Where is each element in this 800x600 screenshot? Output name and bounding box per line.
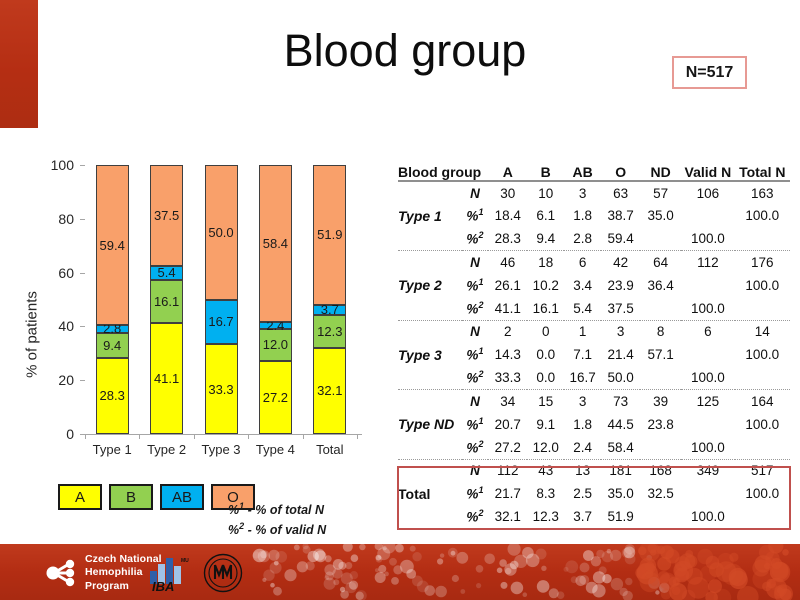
table-cell: 168 [640, 459, 681, 482]
chart-plot-area: 28.39.42.859.441.116.15.437.533.30.016.7… [85, 165, 357, 434]
table-cell: 41.1 [488, 297, 527, 320]
table-cell: 46 [488, 251, 527, 274]
table-cell: 58.4 [601, 436, 640, 459]
bar-segment-o: 59.4 [96, 165, 129, 325]
bar-segment-ab: 5.4 [150, 266, 183, 281]
bar-segment-o: 58.4 [259, 165, 292, 322]
table-header-ab: AB [564, 164, 601, 180]
y-tick-label: 60 [38, 266, 74, 280]
table-cell: 21.4 [601, 343, 640, 366]
slide-accent-block [0, 0, 38, 128]
table-cell: 5.4 [564, 297, 601, 320]
table-header-row: Blood groupABABONDValid NTotal N [398, 164, 790, 180]
table-cell: 2.8 [564, 227, 601, 250]
table-cell: 1.8 [564, 413, 601, 436]
table-cell: 176 [735, 251, 790, 274]
bar-value-label: 12.0 [263, 337, 288, 352]
table-cell: 163 [735, 181, 790, 204]
table-cell: 35.0 [601, 482, 640, 505]
table-cell: 64 [640, 251, 681, 274]
table-cell [640, 505, 681, 528]
table-header-total-n: Total N [735, 164, 790, 180]
bar-segment-a: 32.1 [313, 348, 346, 434]
x-axis-line [80, 434, 362, 435]
bar-column: 28.39.42.859.4 [96, 165, 129, 434]
table-cell: 28.3 [488, 227, 527, 250]
stat-label: %2 [462, 366, 489, 389]
table-cell: 34 [488, 390, 527, 413]
footnotes: %1 - % of total N %2 - % of valid N [228, 500, 326, 540]
table-cell: 100.0 [681, 505, 734, 528]
bar-value-label: 37.5 [154, 208, 179, 223]
table-cell [681, 274, 734, 297]
table-cell: 26.1 [488, 274, 527, 297]
table-cell: 2.4 [564, 436, 601, 459]
bar-value-label: 16.7 [208, 314, 233, 329]
iba-logo: IBA MU [148, 554, 194, 592]
x-tick-mark [303, 434, 304, 439]
table-cell: 2 [488, 320, 527, 343]
legend-label: AB [172, 489, 192, 506]
stat-label: %2 [462, 297, 489, 320]
table-cell: 14.3 [488, 343, 527, 366]
x-tick-mark [357, 434, 358, 439]
bar-segment-ab: 3.7 [313, 305, 346, 315]
table-cell: 6.1 [527, 204, 564, 227]
table-row: Type 3N20138614 [398, 320, 790, 343]
table-cell: 23.8 [640, 413, 681, 436]
bar-segment-a: 27.2 [259, 361, 292, 434]
table-cell: 33.3 [488, 366, 527, 389]
table-cell [735, 436, 790, 459]
table-cell [681, 482, 734, 505]
table-cell: 14 [735, 320, 790, 343]
table-cell: 100.0 [735, 204, 790, 227]
sample-size-badge: N=517 [672, 56, 747, 89]
table-cell: 44.5 [601, 413, 640, 436]
table-header-valid-n: Valid N [681, 164, 734, 180]
row-group-label: Type 3 [398, 320, 462, 389]
table-cell: 37.5 [601, 297, 640, 320]
footnote-2: %2 - % of valid N [228, 520, 326, 540]
table-cell: 0.0 [527, 343, 564, 366]
table-rule [398, 528, 790, 529]
svg-text:MU: MU [181, 558, 189, 564]
table-cell: 100.0 [735, 413, 790, 436]
table-cell: 32.5 [640, 482, 681, 505]
bar-value-label: 27.2 [263, 390, 288, 405]
table-cell: 10.2 [527, 274, 564, 297]
table-cell: 0 [527, 320, 564, 343]
bar-value-label: 58.4 [263, 236, 288, 251]
bar-value-label: 12.3 [317, 324, 342, 339]
x-tick-mark [248, 434, 249, 439]
table-cell: 39 [640, 390, 681, 413]
table-cell [681, 204, 734, 227]
bar-column: 32.112.33.751.9 [313, 165, 346, 434]
table-cell: 57.1 [640, 343, 681, 366]
bar-column: 27.212.02.458.4 [259, 165, 292, 434]
bar-segment-ab: 2.8 [96, 325, 129, 333]
row-group-label: Type ND [398, 390, 462, 459]
table-row: Type 2N461864264112176 [398, 251, 790, 274]
table-cell [735, 505, 790, 528]
table-cell [681, 343, 734, 366]
bar-segment-b: 9.4 [96, 333, 129, 358]
bar-column: 33.30.016.750.0 [205, 165, 238, 434]
table-cell: 73 [601, 390, 640, 413]
table-cell: 30 [488, 181, 527, 204]
table-cell: 20.7 [488, 413, 527, 436]
table-header-blood-group: Blood group [398, 164, 488, 180]
stat-label: %1 [462, 274, 489, 297]
table-cell: 2.5 [564, 482, 601, 505]
stat-label: %1 [462, 482, 489, 505]
y-tick-label: 40 [38, 319, 74, 333]
table-cell: 1 [564, 320, 601, 343]
blood-group-table: Blood groupABABONDValid NTotal NType 1N3… [398, 164, 790, 530]
row-group-label: Type 2 [398, 251, 462, 320]
table-row: Type NDN341537339125164 [398, 390, 790, 413]
stat-label: N [462, 390, 489, 413]
page-title: Blood group [190, 27, 620, 74]
stat-label: N [462, 251, 489, 274]
table-cell [735, 227, 790, 250]
x-category-label: Total [295, 442, 365, 457]
legend-label: B [126, 489, 136, 506]
cnhp-molecule-icon [44, 556, 78, 590]
table-header-o: O [601, 164, 640, 180]
bar-segment-ab: 2.4 [259, 322, 292, 328]
table-cell: 125 [681, 390, 734, 413]
table-cell: 7.1 [564, 343, 601, 366]
table-cell: 100.0 [681, 436, 734, 459]
table-cell: 100.0 [735, 343, 790, 366]
bar-value-label: 5.4 [158, 265, 176, 280]
table-cell: 16.7 [564, 366, 601, 389]
table-cell: 100.0 [735, 482, 790, 505]
table-cell: 8.3 [527, 482, 564, 505]
table-cell: 181 [601, 459, 640, 482]
y-tick-label: 0 [38, 427, 74, 441]
table-cell: 16.1 [527, 297, 564, 320]
table-cell: 12.3 [527, 505, 564, 528]
stat-label: %2 [462, 505, 489, 528]
stat-label: %1 [462, 413, 489, 436]
table-cell: 3 [601, 320, 640, 343]
bar-value-label: 51.9 [317, 227, 342, 242]
table-cell: 112 [488, 459, 527, 482]
table-cell: 8 [640, 320, 681, 343]
bar-value-label: 16.1 [154, 294, 179, 309]
table-row: Type 1N301036357106163 [398, 181, 790, 204]
bar-segment-a: 33.3 [205, 344, 238, 434]
legend-item-a: A [58, 484, 102, 510]
table-cell [640, 227, 681, 250]
legend-item-ab: AB [160, 484, 204, 510]
legend-label: A [75, 489, 85, 506]
table-cell: 112 [681, 251, 734, 274]
table-cell: 6 [681, 320, 734, 343]
table-cell: 13 [564, 459, 601, 482]
stat-label: N [462, 459, 489, 482]
table-cell: 6 [564, 251, 601, 274]
cnhp-logo: Czech National Hemophilia Program [44, 553, 162, 593]
bar-value-label: 41.1 [154, 371, 179, 386]
stat-label: %1 [462, 204, 489, 227]
y-tick-label: 100 [38, 158, 74, 172]
y-tick-label: 80 [38, 212, 74, 226]
table-cell: 23.9 [601, 274, 640, 297]
bar-segment-b: 12.0 [259, 329, 292, 361]
bar-column: 41.116.15.437.5 [150, 165, 183, 434]
table-cell [735, 297, 790, 320]
row-group-label: Total [398, 459, 462, 528]
table-cell: 38.7 [601, 204, 640, 227]
bar-segment-o: 50.0 [205, 165, 238, 300]
bar-value-label: 9.4 [103, 338, 121, 353]
table-cell: 50.0 [601, 366, 640, 389]
table-cell: 18 [527, 251, 564, 274]
table-cell: 106 [681, 181, 734, 204]
sample-size-text: N=517 [686, 64, 734, 82]
stat-label: %2 [462, 227, 489, 250]
table-cell: 10 [527, 181, 564, 204]
bar-value-label: 33.3 [208, 382, 233, 397]
table-cell: 164 [735, 390, 790, 413]
table-cell: 349 [681, 459, 734, 482]
table-cell: 3.7 [564, 505, 601, 528]
table-cell: 100.0 [735, 274, 790, 297]
table-cell: 100.0 [681, 366, 734, 389]
bar-segment-b: 12.3 [313, 315, 346, 348]
table-cell: 100.0 [681, 297, 734, 320]
stat-label: %2 [462, 436, 489, 459]
table-row: TotalN1124313181168349517 [398, 459, 790, 482]
table-cell [735, 366, 790, 389]
table-cell [681, 413, 734, 436]
table-cell: 3 [564, 181, 601, 204]
footnote-1: %1 - % of total N [228, 500, 326, 520]
row-group-label: Type 1 [398, 181, 462, 250]
table-cell: 9.4 [527, 227, 564, 250]
x-tick-mark [139, 434, 140, 439]
bar-value-label: 50.0 [208, 225, 233, 240]
table-cell: 57 [640, 181, 681, 204]
bar-value-label: 28.3 [100, 388, 125, 403]
stacked-bar-chart: % of patients 020406080100 28.39.42.859.… [0, 150, 390, 450]
table-cell: 100.0 [681, 227, 734, 250]
table-cell: 18.4 [488, 204, 527, 227]
table-cell: 517 [735, 459, 790, 482]
table-cell: 12.0 [527, 436, 564, 459]
table-cell: 0.0 [527, 366, 564, 389]
table-header-a: A [488, 164, 527, 180]
table-cell: 43 [527, 459, 564, 482]
x-tick-mark [85, 434, 86, 439]
table-cell: 3.4 [564, 274, 601, 297]
bar-value-label: 59.4 [100, 238, 125, 253]
y-tick-label: 20 [38, 373, 74, 387]
x-tick-mark [194, 434, 195, 439]
table-cell: 15 [527, 390, 564, 413]
chart-legend: ABABO [58, 484, 255, 510]
table-cell: 63 [601, 181, 640, 204]
table-cell: 42 [601, 251, 640, 274]
svg-text:IBA: IBA [152, 579, 174, 592]
table-cell: 36.4 [640, 274, 681, 297]
table-header-nd: ND [640, 164, 681, 180]
table-cell: 27.2 [488, 436, 527, 459]
bar-segment-a: 41.1 [150, 323, 183, 434]
table-cell [640, 366, 681, 389]
stat-label: N [462, 181, 489, 204]
bar-segment-o: 51.9 [313, 165, 346, 305]
table-cell: 51.9 [601, 505, 640, 528]
bar-segment-b: 16.1 [150, 280, 183, 323]
bar-segment-ab: 16.7 [205, 300, 238, 345]
masaryk-university-seal [203, 553, 243, 593]
table-cell: 32.1 [488, 505, 527, 528]
table-cell: 1.8 [564, 204, 601, 227]
table-cell [640, 297, 681, 320]
bar-value-label: 32.1 [317, 383, 342, 398]
bar-segment-a: 28.3 [96, 358, 129, 434]
table-cell: 3 [564, 390, 601, 413]
slide-footer: Czech National Hemophilia Program IBA MU [0, 544, 800, 600]
legend-item-b: B [109, 484, 153, 510]
table-header-b: B [527, 164, 564, 180]
stat-label: %1 [462, 343, 489, 366]
table-cell: 9.1 [527, 413, 564, 436]
table-cell: 21.7 [488, 482, 527, 505]
stat-label: N [462, 320, 489, 343]
table-cell [640, 436, 681, 459]
table-cell: 35.0 [640, 204, 681, 227]
bar-value-label: 3.7 [321, 304, 339, 315]
table-cell: 59.4 [601, 227, 640, 250]
bar-segment-o: 37.5 [150, 165, 183, 266]
